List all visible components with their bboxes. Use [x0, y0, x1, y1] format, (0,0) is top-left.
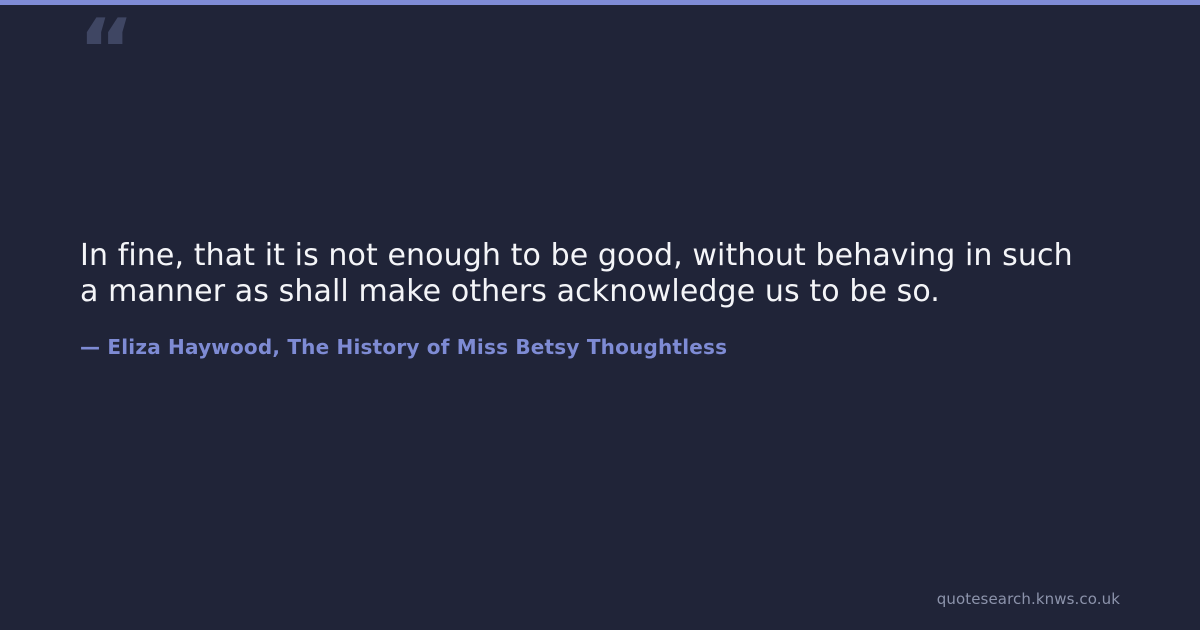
quote-content: In fine, that it is not enough to be goo…: [80, 238, 1120, 360]
top-accent-bar: [0, 0, 1200, 5]
footer-site-url: quotesearch.knws.co.uk: [937, 590, 1120, 608]
open-quote-icon: “: [78, 8, 133, 94]
attribution-dash: —: [80, 335, 100, 359]
quote-card: “ In fine, that it is not enough to be g…: [0, 0, 1200, 630]
quote-text: In fine, that it is not enough to be goo…: [80, 238, 1090, 310]
attribution-text: Eliza Haywood, The History of Miss Betsy…: [107, 335, 727, 359]
quote-attribution: — Eliza Haywood, The History of Miss Bet…: [80, 310, 1120, 360]
